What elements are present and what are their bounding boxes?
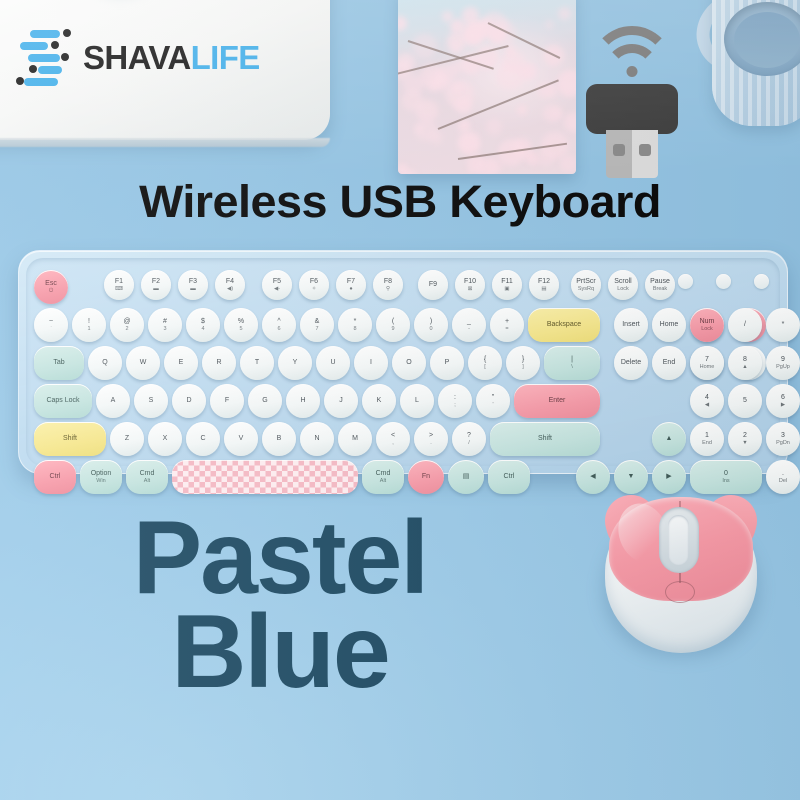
- key-y[interactable]: Y: [278, 346, 312, 380]
- key-label: 6: [781, 394, 785, 402]
- key-f12[interactable]: F12▤: [529, 270, 559, 300]
- key-t[interactable]: T: [240, 346, 274, 380]
- key-0[interactable]: 0Ins: [690, 460, 762, 494]
- key-enter[interactable]: Enter: [514, 384, 600, 418]
- key-esc[interactable]: Esc⏻: [34, 270, 68, 304]
- wifi-dot: [627, 66, 638, 77]
- key-label: Scroll: [614, 278, 632, 286]
- key-blank[interactable]: *8: [338, 308, 372, 342]
- key-1[interactable]: 1End: [690, 422, 724, 456]
- key-blank[interactable]: /: [728, 308, 762, 342]
- key-sublabel: ▣: [504, 286, 509, 292]
- key-label: |: [571, 356, 573, 364]
- key-label: Num: [700, 318, 715, 326]
- key-label: End: [663, 359, 675, 367]
- usb-pin-right: [639, 144, 651, 156]
- key-sublabel: 1: [87, 326, 90, 332]
- blossom-cluster: [416, 100, 438, 122]
- key-sublabel: [: [484, 364, 486, 370]
- key-f6[interactable]: F6✧: [299, 270, 329, 300]
- brand-logo: SHAVALIFE: [16, 28, 260, 86]
- key-blank[interactable]: {[: [468, 346, 502, 380]
- ceramic-mug-prop: [694, 0, 800, 138]
- key-p[interactable]: P: [430, 346, 464, 380]
- key-label: #: [163, 318, 167, 326]
- key-label: ~: [49, 318, 53, 326]
- key-label: .: [782, 470, 784, 478]
- key-label: F3: [189, 278, 197, 286]
- key-label: L: [415, 397, 419, 405]
- key-i[interactable]: I: [354, 346, 388, 380]
- key-blank[interactable]: ▲: [652, 422, 686, 456]
- key-label: F11: [501, 278, 513, 286]
- key-z[interactable]: Z: [110, 422, 144, 456]
- key-f4[interactable]: F4◀): [215, 270, 245, 300]
- key-label: %: [238, 318, 244, 326]
- key-end[interactable]: End: [652, 346, 686, 380]
- key-q[interactable]: Q: [88, 346, 122, 380]
- key-sublabel: 2: [125, 326, 128, 332]
- key-sublabel: =: [505, 326, 508, 332]
- key-4[interactable]: 4◀: [690, 384, 724, 418]
- key-blank[interactable]: :;: [438, 384, 472, 418]
- blossom-cluster: [560, 155, 576, 172]
- key-label: 8: [743, 356, 747, 364]
- key-ctrl[interactable]: Ctrl: [488, 460, 530, 494]
- key-shift[interactable]: Shift: [34, 422, 106, 456]
- key-sublabel: \: [571, 364, 573, 370]
- scroll-wheel[interactable]: [668, 515, 689, 565]
- key-backspace[interactable]: Backspace: [528, 308, 600, 342]
- key-sublabel: ▲: [742, 364, 747, 370]
- key-prtscr[interactable]: PrtScrSysRq: [571, 270, 601, 300]
- key-sublabel: PgDn: [776, 440, 790, 446]
- key-r[interactable]: R: [202, 346, 236, 380]
- key-blank[interactable]: #3: [148, 308, 182, 342]
- key-l[interactable]: L: [400, 384, 434, 418]
- key-blank[interactable]: ▤: [448, 460, 484, 494]
- key-label: :: [454, 394, 456, 402]
- key-label: I: [370, 359, 372, 367]
- key-blank[interactable]: ◀: [576, 460, 610, 494]
- key-7[interactable]: 7Home: [690, 346, 724, 380]
- key-blank[interactable]: )0: [414, 308, 448, 342]
- key-d[interactable]: D: [172, 384, 206, 418]
- key-sublabel: Ins: [722, 478, 729, 484]
- blossom-cluster: [451, 60, 464, 73]
- key-label: F12: [538, 278, 550, 286]
- key-label: 1: [705, 432, 709, 440]
- key-label: 9: [781, 356, 785, 364]
- key-label: }: [522, 356, 524, 364]
- key-label: J: [339, 397, 343, 405]
- key-sublabel: 0: [429, 326, 432, 332]
- key-label: Caps Lock: [46, 397, 79, 405]
- key-label: E: [179, 359, 184, 367]
- key-sublabel: /: [468, 440, 470, 446]
- key-pause[interactable]: PauseBreak: [645, 270, 675, 300]
- key-label: G: [262, 397, 267, 405]
- key-label: ◀: [590, 473, 595, 481]
- key-sublabel: ⚲: [386, 286, 390, 292]
- key-label: (: [392, 318, 394, 326]
- key-sublabel: ]: [522, 364, 524, 370]
- key-sublabel: ▬: [190, 286, 196, 292]
- indicator-led-2: [716, 274, 731, 289]
- key-f1[interactable]: F1⌨: [104, 270, 134, 300]
- key-sublabel: Home: [700, 364, 715, 370]
- key-label: Y: [293, 359, 298, 367]
- key-label: *: [354, 318, 357, 326]
- key-b[interactable]: B: [262, 422, 296, 456]
- blossom-cluster: [564, 113, 576, 132]
- usb-wireless-dongle-icon: [576, 26, 688, 178]
- key-f8[interactable]: F8⚲: [373, 270, 403, 300]
- key-delete[interactable]: Delete: [614, 346, 648, 380]
- key-caps-lock[interactable]: Caps Lock: [34, 384, 92, 418]
- key-sublabel: ✧: [312, 286, 317, 292]
- blossom-cluster: [415, 120, 436, 141]
- key-w[interactable]: W: [126, 346, 160, 380]
- key-blank[interactable]: +=: [490, 308, 524, 342]
- key-scroll[interactable]: ScrollLock: [608, 270, 638, 300]
- key-label: Pause: [650, 278, 670, 286]
- key-j[interactable]: J: [324, 384, 358, 418]
- indicator-led-3: [754, 274, 769, 289]
- key-sublabel: .: [430, 440, 432, 446]
- key-sublabel: ◀-: [274, 286, 280, 292]
- usb-pin-left: [613, 144, 625, 156]
- key-sublabel: ;: [454, 402, 456, 408]
- logo-bar-1: [30, 30, 60, 38]
- key-label: U: [330, 359, 335, 367]
- key-sublabel: 8: [353, 326, 356, 332]
- key-label: Home: [660, 321, 679, 329]
- key-cmd[interactable]: CmdAlt: [126, 460, 168, 494]
- key-label: X: [163, 435, 168, 443]
- dpi-button[interactable]: [665, 581, 695, 603]
- key-label: Cmd: [140, 470, 155, 478]
- key-label: /: [744, 321, 746, 329]
- wifi-signal-icon: [590, 26, 674, 82]
- key-label: 5: [743, 397, 747, 405]
- key-label: K: [377, 397, 382, 405]
- key-sublabel: 4: [201, 326, 204, 332]
- key-label: Enter: [549, 397, 566, 405]
- key-blank[interactable]: ▶: [652, 460, 686, 494]
- key-label: Z: [125, 435, 129, 443]
- key-6[interactable]: 6▶: [766, 384, 800, 418]
- key-sublabel: ,: [392, 440, 394, 446]
- key-sublabel: 6: [277, 326, 280, 332]
- key-blank[interactable]: %5: [224, 308, 258, 342]
- key-label: ?: [467, 432, 471, 440]
- key-insert[interactable]: Insert: [614, 308, 648, 342]
- key-blank[interactable]: @2: [110, 308, 144, 342]
- key-3[interactable]: 3PgDn: [766, 422, 800, 456]
- key-label: PrtScr: [576, 278, 595, 286]
- key-sublabel: Win: [96, 478, 105, 484]
- key-f3[interactable]: F3▬: [178, 270, 208, 300]
- key-m[interactable]: M: [338, 422, 372, 456]
- key-a[interactable]: A: [96, 384, 130, 418]
- logo-bar-2: [20, 42, 48, 50]
- key-label: F10: [464, 278, 476, 286]
- key-blank[interactable]: <,: [376, 422, 410, 456]
- logo-dot-4: [29, 65, 37, 73]
- key-label: ▼: [628, 473, 635, 481]
- key-label: F4: [226, 278, 234, 286]
- key-o[interactable]: O: [392, 346, 426, 380]
- key-k[interactable]: K: [362, 384, 396, 418]
- key-label: F7: [347, 278, 355, 286]
- key-sublabel: ▶: [781, 402, 785, 408]
- logo-bar-5: [24, 78, 58, 86]
- key-label: >: [429, 432, 433, 440]
- key-label: Insert: [622, 321, 640, 329]
- key-blank[interactable]: *: [766, 308, 800, 342]
- key-blank[interactable]: ▼: [614, 460, 648, 494]
- key-label: ▶: [666, 473, 671, 481]
- key-label: F5: [273, 278, 281, 286]
- key-label: Backspace: [547, 321, 581, 329]
- page-title: Wireless USB Keyboard: [0, 176, 800, 228]
- blossom-cluster: [461, 20, 486, 45]
- key-label: A: [111, 397, 116, 405]
- key-8[interactable]: 8▲: [728, 346, 762, 380]
- key-label: N: [314, 435, 319, 443]
- brand-wordmark: SHAVALIFE: [83, 41, 260, 74]
- key-label: 4: [705, 394, 709, 402]
- keyboard-key-area: Esc⏻F1⌨F2▬F3▬F4◀)F5◀-F6✧F7●F8⚲F9F10⊠F11▣…: [26, 258, 780, 466]
- key-f9[interactable]: F9: [418, 270, 448, 300]
- logo-dot-5: [16, 77, 24, 85]
- key-label: ▤: [463, 473, 470, 481]
- key-blank[interactable]: !1: [72, 308, 106, 342]
- key-sublabel: Alt: [380, 478, 386, 484]
- pastel-wireless-keyboard[interactable]: Esc⏻F1⌨F2▬F3▬F4◀)F5◀-F6✧F7●F8⚲F9F10⊠F11▣…: [18, 250, 788, 474]
- logo-dot-3: [61, 53, 69, 61]
- key-sublabel: End: [702, 440, 712, 446]
- blossom-cluster: [536, 148, 555, 167]
- key-label: Shift: [63, 435, 77, 443]
- key-sublabel: SysRq: [578, 286, 594, 292]
- key-label: &: [315, 318, 320, 326]
- key-fn[interactable]: Fn: [408, 460, 444, 494]
- key-sublabel: 5: [239, 326, 242, 332]
- key-blank[interactable]: ~`: [34, 308, 68, 342]
- key-label: O: [406, 359, 411, 367]
- blossom-cluster: [545, 20, 554, 29]
- key-ctrl[interactable]: Ctrl: [34, 460, 76, 494]
- key-label: 3: [781, 432, 785, 440]
- key-label: S: [149, 397, 154, 405]
- key-label: V: [239, 435, 244, 443]
- key-f[interactable]: F: [210, 384, 244, 418]
- key-label: W: [140, 359, 147, 367]
- key-blank[interactable]: "': [476, 384, 510, 418]
- key-blank[interactable]: [172, 460, 358, 494]
- key-h[interactable]: H: [286, 384, 320, 418]
- mug-interior: [734, 12, 800, 68]
- indicator-led-1: [678, 274, 693, 289]
- key-label: 7: [705, 356, 709, 364]
- key-shift[interactable]: Shift: [490, 422, 600, 456]
- key-blank[interactable]: (9: [376, 308, 410, 342]
- key-label: F2: [152, 278, 160, 286]
- key-f5[interactable]: F5◀-: [262, 270, 292, 300]
- key-f2[interactable]: F2▬: [141, 270, 171, 300]
- key-label: *: [782, 321, 785, 329]
- key-sublabel: ●: [349, 286, 352, 292]
- key-label: <: [391, 432, 395, 440]
- key-2[interactable]: 2▼: [728, 422, 762, 456]
- key-9[interactable]: 9PgUp: [766, 346, 800, 380]
- key-sublabel: ▼: [742, 440, 747, 446]
- key-label: Ctrl: [504, 473, 515, 481]
- key-blank[interactable]: $4: [186, 308, 220, 342]
- blossom-cluster: [455, 97, 472, 114]
- key-label: Esc: [45, 280, 57, 288]
- key-sublabel: ◀): [227, 286, 233, 292]
- key-sublabel: `: [50, 326, 52, 332]
- key-label: 2: [743, 432, 747, 440]
- key-sublabel: Del: [779, 478, 787, 484]
- key-x[interactable]: X: [148, 422, 182, 456]
- key-label: {: [484, 356, 486, 364]
- key-sublabel: ▬: [153, 286, 159, 292]
- key-sublabel: 3: [163, 326, 166, 332]
- key-label: Delete: [621, 359, 641, 367]
- key-blank[interactable]: ^6: [262, 308, 296, 342]
- blossom-cluster: [454, 84, 462, 92]
- key-blank[interactable]: _-: [452, 308, 486, 342]
- wordmark-line-2: Blue: [0, 606, 560, 700]
- key-label: Q: [102, 359, 107, 367]
- key-sublabel: 9: [391, 326, 394, 332]
- key-label: F1: [115, 278, 123, 286]
- key-label: !: [88, 318, 90, 326]
- key-sublabel: PgUp: [776, 364, 790, 370]
- key-label: H: [300, 397, 305, 405]
- key-e[interactable]: E: [164, 346, 198, 380]
- key-label: Option: [91, 470, 112, 478]
- logo-dot-2: [51, 41, 59, 49]
- blossom-cluster: [517, 105, 527, 115]
- blossom-cluster: [451, 45, 459, 53]
- cherry-blossom-photo: [398, 0, 576, 174]
- key-blank[interactable]: &7: [300, 308, 334, 342]
- key-sublabel: ⌨: [115, 286, 123, 292]
- logo-bar-3: [28, 54, 60, 62]
- key-label: $: [201, 318, 205, 326]
- key-sublabel: ▤: [541, 286, 546, 292]
- key-g[interactable]: G: [248, 384, 282, 418]
- key-label: Shift: [538, 435, 552, 443]
- laptop-smudge: [80, 0, 160, 4]
- key-c[interactable]: C: [186, 422, 220, 456]
- key-blank[interactable]: }]: [506, 346, 540, 380]
- wordmark-line-1: Pastel: [0, 512, 560, 606]
- key-label: F: [225, 397, 229, 405]
- key-blank[interactable]: .Del: [766, 460, 800, 494]
- key-v[interactable]: V: [224, 422, 258, 456]
- key-home[interactable]: Home: [652, 308, 686, 342]
- key-label: C: [200, 435, 205, 443]
- key-sublabel: Lock: [701, 326, 713, 332]
- key-label: F8: [384, 278, 392, 286]
- logo-dot-1: [63, 29, 71, 37]
- brand-name-dark: SHAVA: [83, 39, 191, 76]
- key-label: 0: [724, 470, 728, 478]
- key-blank[interactable]: >.: [414, 422, 448, 456]
- key-label: _: [467, 318, 471, 326]
- shava-bars-logo-icon: [16, 28, 70, 86]
- key-sublabel: Alt: [144, 478, 150, 484]
- key-sublabel: ⊠: [468, 286, 473, 292]
- key-sublabel: ⏻: [49, 288, 53, 294]
- key-label: R: [216, 359, 221, 367]
- key-label: ": [492, 394, 495, 402]
- key-sublabel: -: [468, 326, 470, 332]
- key-label: M: [352, 435, 358, 443]
- key-option[interactable]: OptionWin: [80, 460, 122, 494]
- key-5[interactable]: 5: [728, 384, 762, 418]
- key-label: ^: [277, 318, 280, 326]
- key-label: @: [123, 318, 130, 326]
- dongle-body: [586, 84, 678, 134]
- color-variant-label: Pastel Blue: [0, 512, 560, 699]
- key-label: +: [505, 318, 509, 326]
- key-blank[interactable]: ?/: [452, 422, 486, 456]
- key-sublabel: Lock: [617, 286, 629, 292]
- key-num[interactable]: NumLock: [690, 308, 724, 342]
- key-sublabel: ◀: [705, 402, 709, 408]
- key-label: ): [430, 318, 432, 326]
- key-tab[interactable]: Tab: [34, 346, 84, 380]
- key-sublabel: 7: [315, 326, 318, 332]
- key-label: Ctrl: [50, 473, 61, 481]
- blossom-cluster: [557, 70, 576, 97]
- key-label: ▲: [666, 435, 673, 443]
- key-label: D: [186, 397, 191, 405]
- key-f7[interactable]: F7●: [336, 270, 366, 300]
- logo-bar-4: [38, 66, 62, 74]
- key-label: F9: [429, 281, 437, 289]
- key-s[interactable]: S: [134, 384, 168, 418]
- key-sublabel: ': [492, 402, 493, 408]
- product-banner: SHAVALIFE Wireless USB Keyboard Esc⏻F1⌨F…: [0, 0, 800, 800]
- key-n[interactable]: N: [300, 422, 334, 456]
- key-label: B: [277, 435, 282, 443]
- key-f11[interactable]: F11▣: [492, 270, 522, 300]
- key-u[interactable]: U: [316, 346, 350, 380]
- key-label: Fn: [422, 473, 430, 481]
- key-label: T: [255, 359, 259, 367]
- key-label: Cmd: [376, 470, 391, 478]
- blossom-cluster: [496, 62, 524, 90]
- wireless-mouse[interactable]: [597, 497, 765, 657]
- brand-name-light: LIFE: [191, 39, 260, 76]
- key-label: Tab: [53, 359, 64, 367]
- key-f10[interactable]: F10⊠: [455, 270, 485, 300]
- key-cmd[interactable]: CmdAlt: [362, 460, 404, 494]
- key-label: F6: [310, 278, 318, 286]
- dongle-usb-connector: [606, 130, 658, 178]
- key-blank[interactable]: |\: [544, 346, 600, 380]
- key-sublabel: Break: [653, 286, 667, 292]
- key-label: P: [445, 359, 450, 367]
